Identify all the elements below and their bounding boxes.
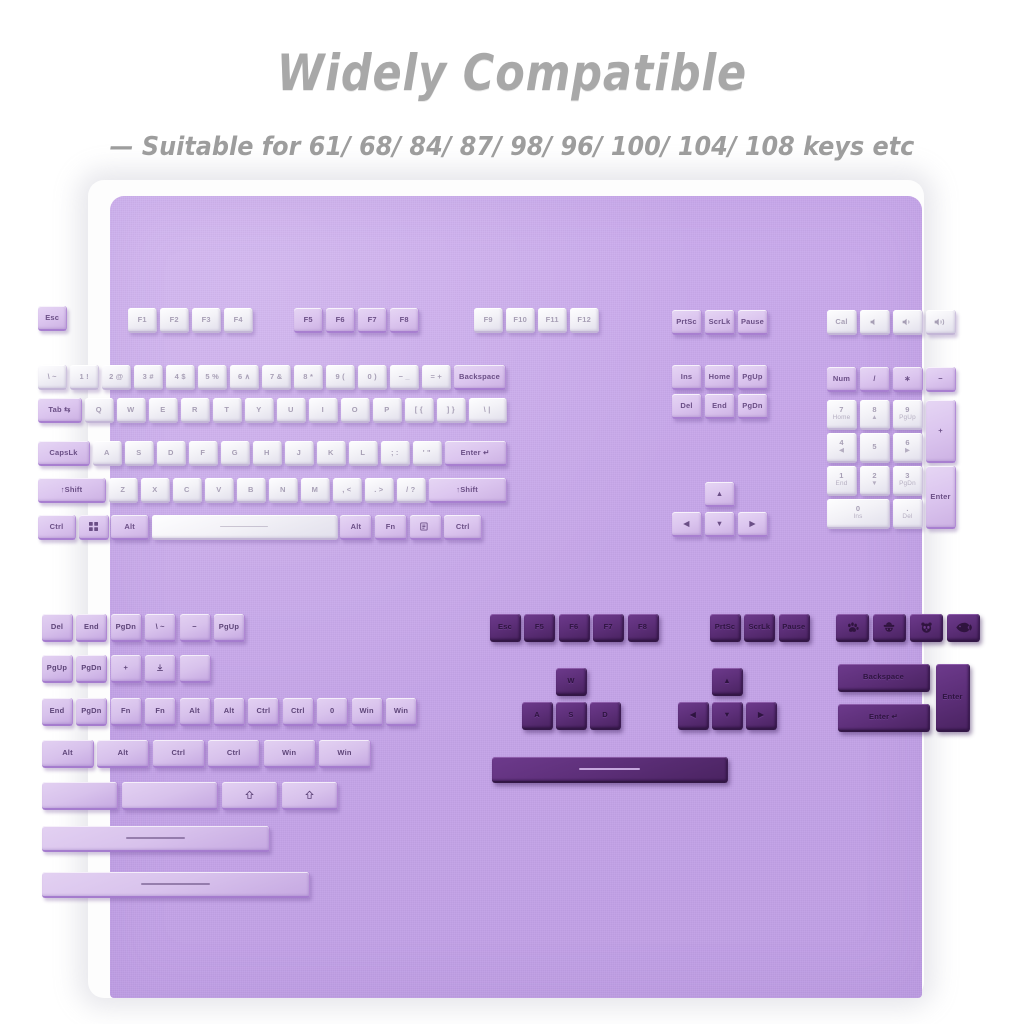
key-scrlk[interactable]: ScrLk bbox=[705, 310, 735, 335]
key-scrlk[interactable]: ScrLk bbox=[744, 614, 775, 642]
windows-icon[interactable] bbox=[79, 515, 109, 540]
key-label: P bbox=[383, 406, 390, 414]
key-label: B bbox=[247, 486, 255, 494]
key-[interactable]: ' " bbox=[413, 441, 442, 466]
key-label: ' " bbox=[422, 449, 432, 457]
key-label: + bbox=[123, 664, 130, 672]
key-w[interactable]: W bbox=[117, 398, 146, 423]
key-g[interactable]: G bbox=[221, 441, 250, 466]
key-label: Ctrl bbox=[256, 707, 272, 715]
key-y[interactable]: Y bbox=[245, 398, 274, 423]
key-label: ScrLk bbox=[747, 623, 771, 631]
key-label: ◀ bbox=[689, 711, 697, 719]
spacebar-dark[interactable] bbox=[492, 757, 728, 783]
key-z[interactable]: Z bbox=[109, 478, 138, 503]
key-label: F bbox=[199, 449, 206, 457]
key-ctrl[interactable]: Ctrl bbox=[444, 515, 482, 540]
key-f8[interactable]: F8 bbox=[628, 614, 659, 642]
key-label: U bbox=[287, 406, 295, 414]
blank-key[interactable] bbox=[42, 782, 118, 810]
key-[interactable]: / ? bbox=[397, 478, 426, 503]
key-label: Esc bbox=[44, 314, 60, 322]
volume-down-icon[interactable] bbox=[893, 310, 923, 335]
key-b[interactable]: B bbox=[237, 478, 266, 503]
key-label: 0Ins bbox=[853, 505, 862, 521]
key-label: Home bbox=[708, 373, 732, 381]
key-label: PrtSc bbox=[675, 318, 698, 326]
key-label: Alt bbox=[117, 749, 130, 757]
key-label: Y bbox=[255, 406, 262, 414]
key-label: Ctrl bbox=[455, 523, 471, 531]
key-ctrl[interactable]: Ctrl bbox=[153, 740, 205, 768]
key-label: Pause bbox=[781, 623, 806, 631]
key-fn[interactable]: Fn bbox=[111, 698, 142, 726]
spacebar-marking bbox=[126, 837, 185, 839]
key-label: L bbox=[359, 449, 366, 457]
key-e[interactable]: E bbox=[149, 398, 178, 423]
key-k[interactable]: K bbox=[317, 441, 346, 466]
key-label: D bbox=[601, 711, 609, 719]
key-enter[interactable]: Enter ↵ bbox=[445, 441, 507, 466]
key-w[interactable]: W bbox=[556, 668, 587, 696]
download-icon[interactable] bbox=[145, 655, 176, 683]
key-label: ; : bbox=[390, 449, 400, 457]
key-num[interactable]: Num bbox=[827, 367, 857, 392]
key-p[interactable]: P bbox=[373, 398, 402, 423]
key-alt[interactable]: Alt bbox=[111, 515, 149, 540]
key-[interactable]: \ ~ bbox=[145, 614, 176, 642]
key-3[interactable]: 3PgDn bbox=[893, 466, 923, 496]
key-[interactable]: = + bbox=[422, 365, 451, 390]
key-enter[interactable]: Enter ↵ bbox=[838, 704, 930, 732]
key-pgup[interactable]: PgUp bbox=[738, 365, 768, 390]
key-sublabel: PgUp bbox=[899, 415, 916, 422]
key-label: Win bbox=[358, 707, 374, 715]
key-alt[interactable]: Alt bbox=[97, 740, 149, 768]
key-alt[interactable]: Alt bbox=[340, 515, 372, 540]
key-label: 7Home bbox=[833, 406, 851, 422]
key-pgdn[interactable]: PgDn bbox=[76, 698, 107, 726]
key-2[interactable]: 2▼ bbox=[860, 466, 890, 496]
key-pgup[interactable]: PgUp bbox=[214, 614, 245, 642]
key-label: 6▶ bbox=[904, 439, 910, 455]
key-[interactable]: ▼ bbox=[705, 512, 735, 537]
key-label: End bbox=[83, 623, 100, 631]
key-[interactable]: ▶ bbox=[738, 512, 768, 537]
key-label: O bbox=[351, 406, 359, 414]
key-f9[interactable]: F9 bbox=[474, 308, 503, 333]
key-[interactable]: ▲ bbox=[712, 668, 743, 696]
spacebar-marking bbox=[579, 768, 640, 770]
key-sublabel: Del bbox=[902, 514, 912, 521]
key-label: Pause bbox=[740, 318, 765, 326]
key-label: Alt bbox=[188, 707, 201, 715]
key-label: ▼ bbox=[722, 711, 732, 719]
key-sublabel: Home bbox=[833, 415, 851, 422]
key-3[interactable]: 3 # bbox=[134, 365, 163, 390]
key-label: End bbox=[49, 707, 66, 715]
key-label: A bbox=[533, 711, 541, 719]
key-f7[interactable]: F7 bbox=[358, 308, 387, 333]
key-label: F6 bbox=[335, 316, 346, 324]
key-sublabel: ▶ bbox=[904, 448, 910, 455]
key-sublabel: PgDn bbox=[899, 481, 916, 488]
key-9[interactable]: 9 ( bbox=[326, 365, 355, 390]
key-f8[interactable]: F8 bbox=[390, 308, 419, 333]
key-[interactable]: − bbox=[180, 614, 211, 642]
key-label: ScrLk bbox=[708, 318, 732, 326]
key-shift[interactable]: ↑Shift bbox=[429, 478, 507, 503]
key-label: F7 bbox=[367, 316, 378, 324]
key-label: H bbox=[263, 449, 271, 457]
key-label: F8 bbox=[399, 316, 410, 324]
key-pause[interactable]: Pause bbox=[779, 614, 810, 642]
key-8[interactable]: 8▲ bbox=[860, 400, 890, 430]
key-label: 8 * bbox=[302, 373, 314, 381]
key-label: Alt bbox=[350, 523, 363, 531]
key-[interactable]: + bbox=[926, 400, 956, 463]
key-esc[interactable]: Esc bbox=[490, 614, 521, 642]
key-shift[interactable]: ↑Shift bbox=[38, 478, 106, 503]
key-sublabel: ◀ bbox=[838, 448, 844, 455]
key-label: Ctrl bbox=[226, 749, 242, 757]
shift-icon[interactable] bbox=[282, 782, 338, 810]
spacebar-long[interactable] bbox=[42, 826, 270, 852]
key-label: 3 # bbox=[142, 373, 155, 381]
key-label: 8▲ bbox=[871, 406, 878, 422]
key-ctrl[interactable]: Ctrl bbox=[208, 740, 260, 768]
key-label: Tab ⇆ bbox=[47, 406, 71, 414]
key-end[interactable]: End bbox=[76, 614, 107, 642]
key-f[interactable]: F bbox=[189, 441, 218, 466]
key-capslk[interactable]: CapsLk bbox=[38, 441, 90, 466]
key-label: Win bbox=[281, 749, 297, 757]
key-7[interactable]: 7Home bbox=[827, 400, 857, 430]
key-[interactable]: [ { bbox=[405, 398, 434, 423]
key-label: W bbox=[126, 406, 135, 414]
key-label: Backspace bbox=[862, 673, 905, 681]
key-pgdn[interactable]: PgDn bbox=[111, 614, 142, 642]
key-win[interactable]: Win bbox=[264, 740, 316, 768]
key-label: 9PgUp bbox=[899, 406, 916, 422]
key-a[interactable]: A bbox=[93, 441, 122, 466]
key-2[interactable]: 2 @ bbox=[102, 365, 131, 390]
key-s[interactable]: S bbox=[125, 441, 154, 466]
key-[interactable]: \ | bbox=[469, 398, 507, 423]
key-u[interactable]: U bbox=[277, 398, 306, 423]
key-6[interactable]: 6▶ bbox=[893, 433, 923, 463]
key-label: Q bbox=[95, 406, 103, 414]
key-[interactable]: ∗ bbox=[893, 367, 923, 392]
key-[interactable]: ▲ bbox=[705, 482, 735, 507]
key-[interactable]: \ ~ bbox=[38, 365, 67, 390]
page-subtitle: — Suitable for 61/ 68/ 84/ 87/ 98/ 96/ 1… bbox=[41, 132, 983, 162]
key-label: \ ~ bbox=[47, 373, 58, 381]
key-label: I bbox=[321, 406, 325, 414]
key-[interactable]: ◀ bbox=[672, 512, 702, 537]
key-pgup[interactable]: PgUp bbox=[42, 655, 73, 683]
key-label: Backspace bbox=[458, 373, 501, 381]
key-f11[interactable]: F11 bbox=[538, 308, 567, 333]
key-label: F8 bbox=[637, 623, 648, 631]
key-win[interactable]: Win bbox=[352, 698, 383, 726]
key-label: Del bbox=[679, 402, 693, 410]
key-label: K bbox=[327, 449, 335, 457]
key-o[interactable]: O bbox=[341, 398, 370, 423]
key-label: F4 bbox=[233, 316, 244, 324]
key-ins[interactable]: Ins bbox=[672, 365, 702, 390]
key-label: ▲ bbox=[722, 677, 732, 685]
key-v[interactable]: V bbox=[205, 478, 234, 503]
key-label: Num bbox=[832, 375, 851, 383]
cat-hat-icon[interactable] bbox=[873, 614, 906, 642]
key-enter[interactable]: Enter bbox=[926, 466, 956, 529]
key-label: F6 bbox=[568, 623, 579, 631]
key-0[interactable]: 0 bbox=[317, 698, 348, 726]
menu-icon[interactable] bbox=[410, 515, 442, 540]
key-label: Ctrl bbox=[49, 523, 65, 531]
key-win[interactable]: Win bbox=[319, 740, 371, 768]
key-f6[interactable]: F6 bbox=[326, 308, 355, 333]
key-prtsc[interactable]: PrtSc bbox=[672, 310, 702, 335]
key-f5[interactable]: F5 bbox=[524, 614, 555, 642]
key-label: Esc bbox=[497, 623, 513, 631]
key-fn[interactable]: Fn bbox=[375, 515, 407, 540]
key-label: D bbox=[167, 449, 175, 457]
key-label: 5 % bbox=[204, 373, 220, 381]
key-backspace[interactable]: Backspace bbox=[838, 664, 930, 692]
key-7[interactable]: 7 & bbox=[262, 365, 291, 390]
key-label: Fn bbox=[385, 523, 397, 531]
key-backspace[interactable]: Backspace bbox=[454, 365, 506, 390]
key-pause[interactable]: Pause bbox=[738, 310, 768, 335]
key-4[interactable]: 4 $ bbox=[166, 365, 195, 390]
key-i[interactable]: I bbox=[309, 398, 338, 423]
key-label: End bbox=[711, 402, 728, 410]
key-f3[interactable]: F3 bbox=[192, 308, 221, 333]
key-f2[interactable]: F2 bbox=[160, 308, 189, 333]
key-label: − bbox=[937, 375, 944, 383]
key-sublabel: ▼ bbox=[871, 481, 878, 488]
key-label: PgDn bbox=[80, 707, 102, 715]
key-1[interactable]: 1 ! bbox=[70, 365, 99, 390]
key-j[interactable]: J bbox=[285, 441, 314, 466]
key-label: G bbox=[231, 449, 239, 457]
key-d[interactable]: D bbox=[157, 441, 186, 466]
key-f4[interactable]: F4 bbox=[224, 308, 253, 333]
key-label: Enter ↵ bbox=[868, 713, 899, 721]
key-c[interactable]: C bbox=[173, 478, 202, 503]
key-del[interactable]: Del bbox=[672, 394, 702, 419]
key-label: C bbox=[183, 486, 191, 494]
key-fn[interactable]: Fn bbox=[145, 698, 176, 726]
key-label: F5 bbox=[303, 316, 314, 324]
key-win[interactable]: Win bbox=[386, 698, 417, 726]
blank-key[interactable] bbox=[180, 655, 211, 683]
key-[interactable]: .Del bbox=[893, 499, 923, 529]
key-label: = + bbox=[429, 373, 442, 381]
key-label: 7 & bbox=[269, 373, 283, 381]
key-end[interactable]: End bbox=[705, 394, 735, 419]
key-ctrl[interactable]: Ctrl bbox=[248, 698, 279, 726]
key-8[interactable]: 8 * bbox=[294, 365, 323, 390]
key-x[interactable]: X bbox=[141, 478, 170, 503]
key-prtsc[interactable]: PrtSc bbox=[710, 614, 741, 642]
key-4[interactable]: 4◀ bbox=[827, 433, 857, 463]
key-pgdn[interactable]: PgDn bbox=[76, 655, 107, 683]
key-f1[interactable]: F1 bbox=[128, 308, 157, 333]
key-label: Fn bbox=[154, 707, 166, 715]
key-9[interactable]: 9PgUp bbox=[893, 400, 923, 430]
key-label: − bbox=[191, 623, 198, 631]
key-label: 9 ( bbox=[335, 373, 346, 381]
key-t[interactable]: T bbox=[213, 398, 242, 423]
key-label: 2▼ bbox=[871, 472, 878, 488]
key-label: PgUp bbox=[741, 373, 763, 381]
spacebar[interactable] bbox=[152, 515, 338, 540]
key-label: Alt bbox=[61, 749, 74, 757]
key-f7[interactable]: F7 bbox=[593, 614, 624, 642]
key-label: PgUp bbox=[46, 664, 68, 672]
key-label: S bbox=[135, 449, 142, 457]
key-5[interactable]: 5 % bbox=[198, 365, 227, 390]
key-label: S bbox=[567, 711, 574, 719]
key-sublabel: Ins bbox=[853, 514, 862, 521]
key-label: 3PgDn bbox=[899, 472, 916, 488]
key-[interactable]: ; : bbox=[381, 441, 410, 466]
key-label: Enter bbox=[941, 693, 963, 701]
key-label: ↑Shift bbox=[60, 486, 84, 494]
key-d[interactable]: D bbox=[590, 702, 621, 730]
key-label: , < bbox=[341, 486, 352, 494]
key-f12[interactable]: F12 bbox=[570, 308, 599, 333]
calculator-key[interactable]: Cal bbox=[827, 310, 857, 335]
key-label: F2 bbox=[169, 316, 180, 324]
spacebar-marking bbox=[220, 526, 268, 528]
key-h[interactable]: H bbox=[253, 441, 282, 466]
key-label: F3 bbox=[201, 316, 212, 324]
key-label: 4◀ bbox=[838, 439, 844, 455]
key-sublabel: End bbox=[836, 481, 848, 488]
blank-key[interactable] bbox=[122, 782, 218, 810]
key-label: PgUp bbox=[218, 623, 240, 631]
key-label: T bbox=[223, 406, 230, 414]
key-[interactable]: ◀ bbox=[678, 702, 709, 730]
key-alt[interactable]: Alt bbox=[214, 698, 245, 726]
key-r[interactable]: R bbox=[181, 398, 210, 423]
key-label: F9 bbox=[483, 316, 494, 324]
key-label: Del bbox=[50, 623, 64, 631]
volume-up-icon[interactable] bbox=[926, 310, 956, 335]
key-label: ▲ bbox=[715, 490, 725, 498]
key-[interactable]: − bbox=[926, 367, 956, 392]
key-[interactable]: . > bbox=[365, 478, 394, 503]
key-label: F5 bbox=[534, 623, 545, 631]
key-label: 6 ∧ bbox=[237, 373, 251, 381]
key-tab[interactable]: Tab ⇆ bbox=[38, 398, 82, 423]
key-ctrl[interactable]: Ctrl bbox=[283, 698, 314, 726]
mute-icon[interactable] bbox=[860, 310, 890, 335]
key-5[interactable]: 5 bbox=[860, 433, 890, 463]
key-label: F7 bbox=[603, 623, 614, 631]
key-q[interactable]: Q bbox=[85, 398, 114, 423]
key-ctrl[interactable]: Ctrl bbox=[38, 515, 76, 540]
key-[interactable]: − _ bbox=[390, 365, 419, 390]
key-0[interactable]: 0Ins bbox=[827, 499, 890, 529]
key-6[interactable]: 6 ∧ bbox=[230, 365, 259, 390]
key-label: E bbox=[159, 406, 166, 414]
spacebar-long[interactable] bbox=[42, 872, 310, 898]
key-f5[interactable]: F5 bbox=[294, 308, 323, 333]
key-[interactable]: ▼ bbox=[712, 702, 743, 730]
key-label: − _ bbox=[398, 373, 411, 381]
key-label: F1 bbox=[137, 316, 148, 324]
key-a[interactable]: A bbox=[522, 702, 553, 730]
key-del[interactable]: Del bbox=[42, 614, 73, 642]
key-home[interactable]: Home bbox=[705, 365, 735, 390]
key-label: Ctrl bbox=[170, 749, 186, 757]
key-[interactable]: , < bbox=[333, 478, 362, 503]
key-label: ▶ bbox=[757, 711, 765, 719]
key-label: J bbox=[296, 449, 302, 457]
key-label: Win bbox=[336, 749, 352, 757]
key-label: CapsLk bbox=[48, 449, 78, 457]
key-label: Enter ↵ bbox=[460, 449, 491, 457]
key-[interactable]: ] } bbox=[437, 398, 466, 423]
key-alt[interactable]: Alt bbox=[42, 740, 94, 768]
key-esc[interactable]: Esc bbox=[38, 306, 67, 331]
key-label: [ { bbox=[414, 406, 424, 414]
key-0[interactable]: 0 ) bbox=[358, 365, 387, 390]
key-m[interactable]: M bbox=[301, 478, 330, 503]
key-end[interactable]: End bbox=[42, 698, 73, 726]
key-l[interactable]: L bbox=[349, 441, 378, 466]
key-label: 4 $ bbox=[174, 373, 187, 381]
key-label: ] } bbox=[446, 406, 456, 414]
key-label: F10 bbox=[512, 316, 528, 324]
page-title: Widely Compatible bbox=[72, 44, 953, 102]
key-label: 0 bbox=[329, 707, 335, 715]
key-label: ∗ bbox=[903, 375, 911, 383]
key-f10[interactable]: F10 bbox=[506, 308, 535, 333]
key-label: \ ~ bbox=[155, 623, 166, 631]
key-[interactable]: ▶ bbox=[746, 702, 777, 730]
key-pgdn[interactable]: PgDn bbox=[738, 394, 768, 419]
key-n[interactable]: N bbox=[269, 478, 298, 503]
key-label: W bbox=[566, 677, 575, 685]
key-label: Cal bbox=[834, 318, 848, 326]
key-label: 0 ) bbox=[367, 373, 378, 381]
key-f6[interactable]: F6 bbox=[559, 614, 590, 642]
key-s[interactable]: S bbox=[556, 702, 587, 730]
key-1[interactable]: 1End bbox=[827, 466, 857, 496]
key-label: R bbox=[191, 406, 199, 414]
key-[interactable]: / bbox=[860, 367, 890, 392]
key-label: Enter bbox=[929, 493, 951, 501]
panda-icon[interactable] bbox=[910, 614, 943, 642]
key-enter[interactable]: Enter bbox=[936, 664, 970, 732]
key-label: M bbox=[311, 486, 319, 494]
key-label: PgDn bbox=[80, 664, 102, 672]
key-[interactable]: + bbox=[111, 655, 142, 683]
key-alt[interactable]: Alt bbox=[180, 698, 211, 726]
key-label: ↑Shift bbox=[455, 486, 479, 494]
shift-icon[interactable] bbox=[222, 782, 278, 810]
key-label: \ | bbox=[483, 406, 492, 414]
key-label: PgDn bbox=[741, 402, 763, 410]
fish-icon[interactable] bbox=[947, 614, 980, 642]
paw-print-icon[interactable] bbox=[836, 614, 869, 642]
